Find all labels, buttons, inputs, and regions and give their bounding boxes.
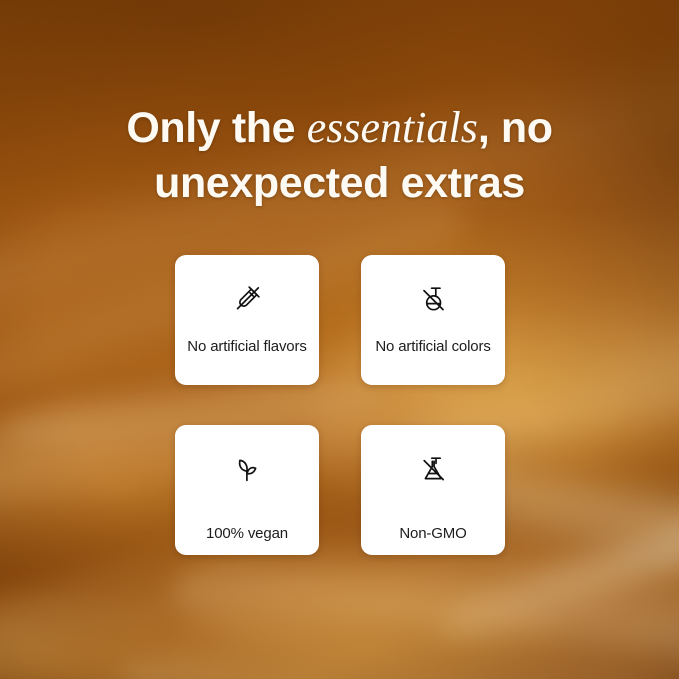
feature-card-non-gmo: Non-GMO — [361, 425, 505, 555]
sprout-icon — [224, 447, 270, 493]
page-title: Only the essentials, no unexpected extra… — [0, 100, 679, 211]
headline-emphasis: essentials — [307, 103, 478, 152]
feature-card-no-artificial-colors: No artificial colors — [361, 255, 505, 385]
headline-part-one: Only the — [126, 104, 306, 152]
no-erlenmeyer-flask-icon — [410, 447, 456, 493]
feature-card-no-artificial-flavors: No artificial flavors — [175, 255, 319, 385]
feature-card-vegan: 100% vegan — [175, 425, 319, 555]
no-test-tube-icon — [224, 277, 270, 323]
feature-card-label: Non-GMO — [393, 523, 472, 544]
feature-card-label: No artificial flavors — [181, 336, 312, 357]
content-layer: Only the essentials, no unexpected extra… — [0, 0, 679, 679]
no-round-flask-icon — [410, 277, 456, 323]
feature-card-label: 100% vegan — [200, 523, 294, 544]
feature-card-label: No artificial colors — [369, 336, 496, 357]
feature-card-grid: No artificial flavors — [175, 255, 505, 555]
promo-image-root: Only the essentials, no unexpected extra… — [0, 0, 679, 679]
